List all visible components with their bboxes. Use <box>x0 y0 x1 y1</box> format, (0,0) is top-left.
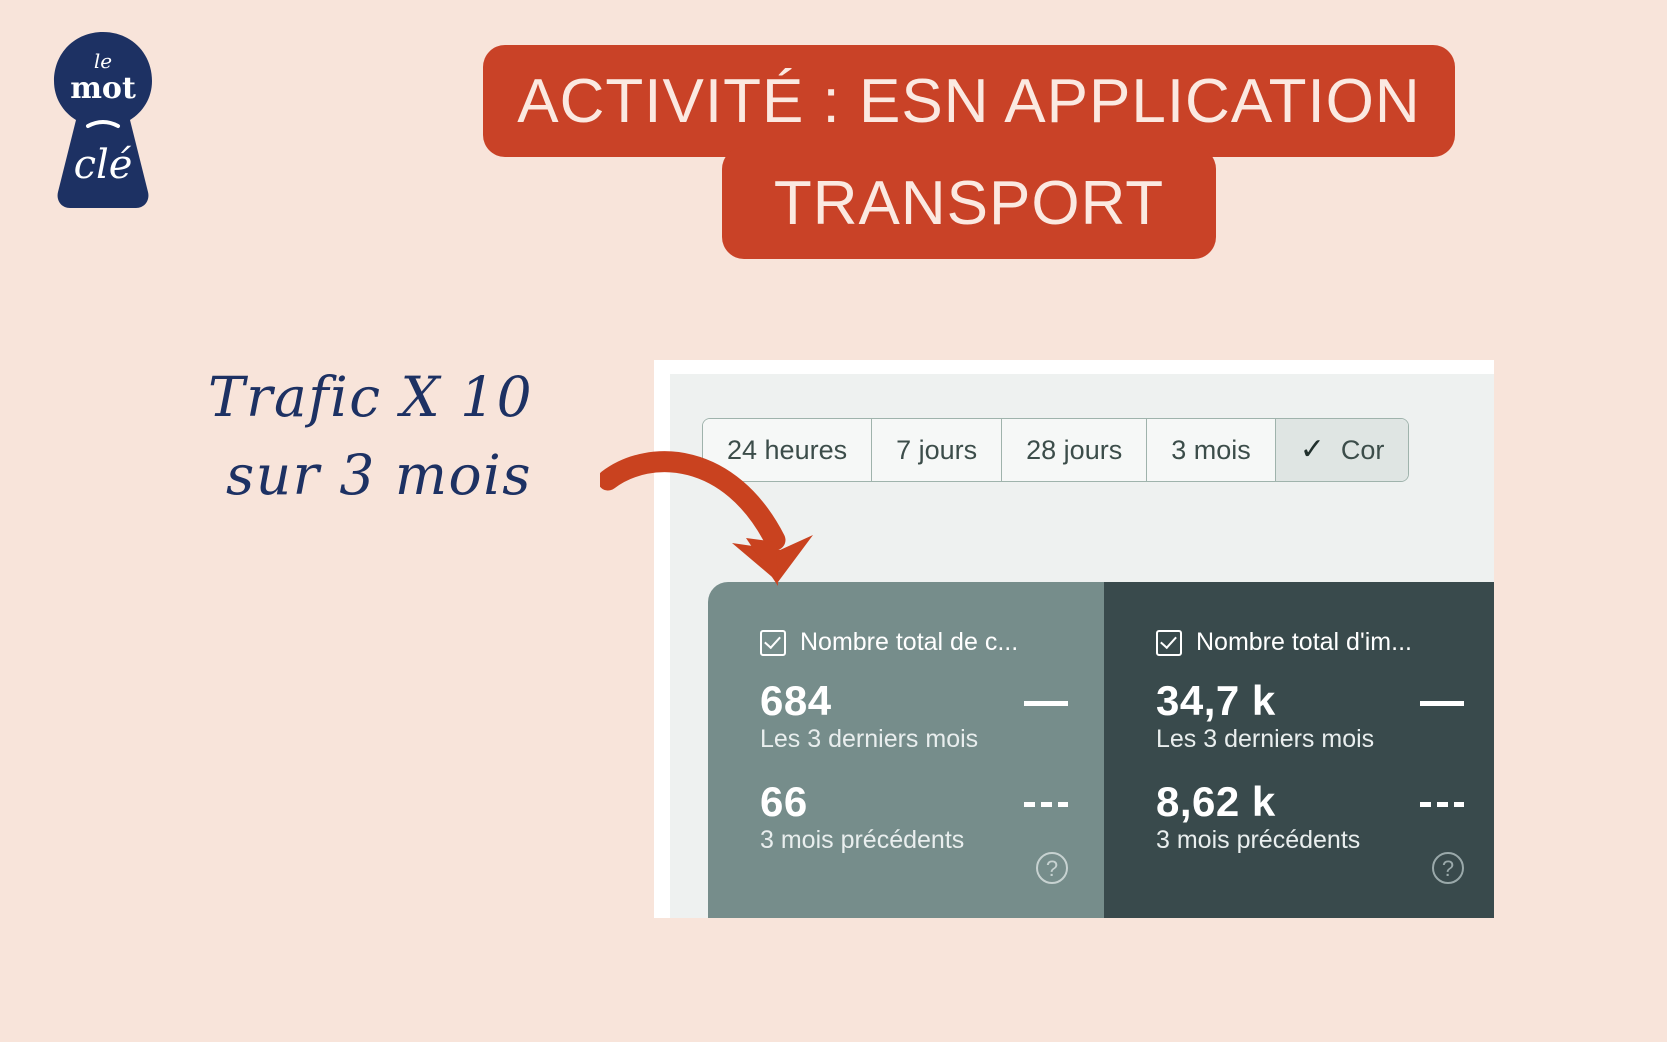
logo-text-cle: clé <box>74 142 133 188</box>
metric-clics-previous-value: 66 <box>760 780 808 824</box>
metric-cards-row: Nombre total de c... 684 Les 3 derniers … <box>708 582 1494 918</box>
metric-card-impressions-title: Nombre total d'im... <box>1196 628 1412 657</box>
tab-24-heures[interactable]: 24 heures <box>703 419 872 481</box>
tab-comparer-label: Cor <box>1341 435 1385 466</box>
annotation-line-2: sur 3 mois <box>208 436 628 514</box>
metric-previous-row: 66 <box>760 780 1068 824</box>
legend-solid-line-icon <box>1024 701 1068 706</box>
metric-card-impressions-header[interactable]: Nombre total d'im... <box>1156 628 1464 657</box>
metric-clics-current-label: Les 3 derniers mois <box>760 725 1068 754</box>
metric-impressions-previous-label: 3 mois précédents <box>1156 826 1464 855</box>
analytics-screenshot-panel: 24 heures 7 jours 28 jours 3 mois ✓ Cor … <box>654 360 1494 918</box>
tab-28-jours[interactable]: 28 jours <box>1002 419 1147 481</box>
annotation-line-1: Trafic X 10 <box>208 358 628 436</box>
metric-impressions-previous-value: 8,62 k <box>1156 780 1276 824</box>
analytics-panel-inner: 24 heures 7 jours 28 jours 3 mois ✓ Cor … <box>670 374 1494 918</box>
metric-impressions-current-label: Les 3 derniers mois <box>1156 725 1464 754</box>
legend-solid-line-icon <box>1420 701 1464 706</box>
tab-comparer[interactable]: ✓ Cor <box>1276 419 1409 481</box>
tab-7-jours[interactable]: 7 jours <box>872 419 1002 481</box>
metric-card-clics-title: Nombre total de c... <box>800 628 1018 657</box>
tab-3-mois[interactable]: 3 mois <box>1147 419 1276 481</box>
help-icon[interactable]: ? <box>1432 852 1464 884</box>
metric-card-clics-header[interactable]: Nombre total de c... <box>760 628 1068 657</box>
metric-impressions-current-value: 34,7 k <box>1156 679 1276 723</box>
page-title-line-1: ACTIVITÉ : ESN APPLICATION <box>483 45 1454 157</box>
metric-previous-row: 8,62 k <box>1156 780 1464 824</box>
legend-dashed-line-icon <box>1420 802 1464 807</box>
metric-clics-previous-label: 3 mois précédents <box>760 826 1068 855</box>
legend-dashed-line-icon <box>1024 802 1068 807</box>
brand-logo: le mot clé <box>48 30 158 210</box>
metric-card-impressions[interactable]: Nombre total d'im... 34,7 k Les 3 dernie… <box>1104 582 1494 918</box>
logo-text-le: le <box>94 49 112 73</box>
metric-card-clics[interactable]: Nombre total de c... 684 Les 3 derniers … <box>708 582 1104 918</box>
check-icon: ✓ <box>1300 435 1325 465</box>
metric-current-row: 684 <box>760 679 1068 723</box>
metric-clics-current-value: 684 <box>760 679 832 723</box>
metric-current-row: 34,7 k <box>1156 679 1464 723</box>
page-title-line-2: TRANSPORT <box>722 147 1216 259</box>
checkbox-checked-icon[interactable] <box>1156 630 1182 656</box>
logo-text-mot: mot <box>70 71 136 106</box>
page-title: ACTIVITÉ : ESN APPLICATION TRANSPORT <box>444 45 1494 259</box>
handwritten-annotation: Trafic X 10 sur 3 mois <box>208 358 628 514</box>
help-icon[interactable]: ? <box>1036 852 1068 884</box>
date-range-tab-bar[interactable]: 24 heures 7 jours 28 jours 3 mois ✓ Cor <box>702 418 1409 482</box>
checkbox-checked-icon[interactable] <box>760 630 786 656</box>
